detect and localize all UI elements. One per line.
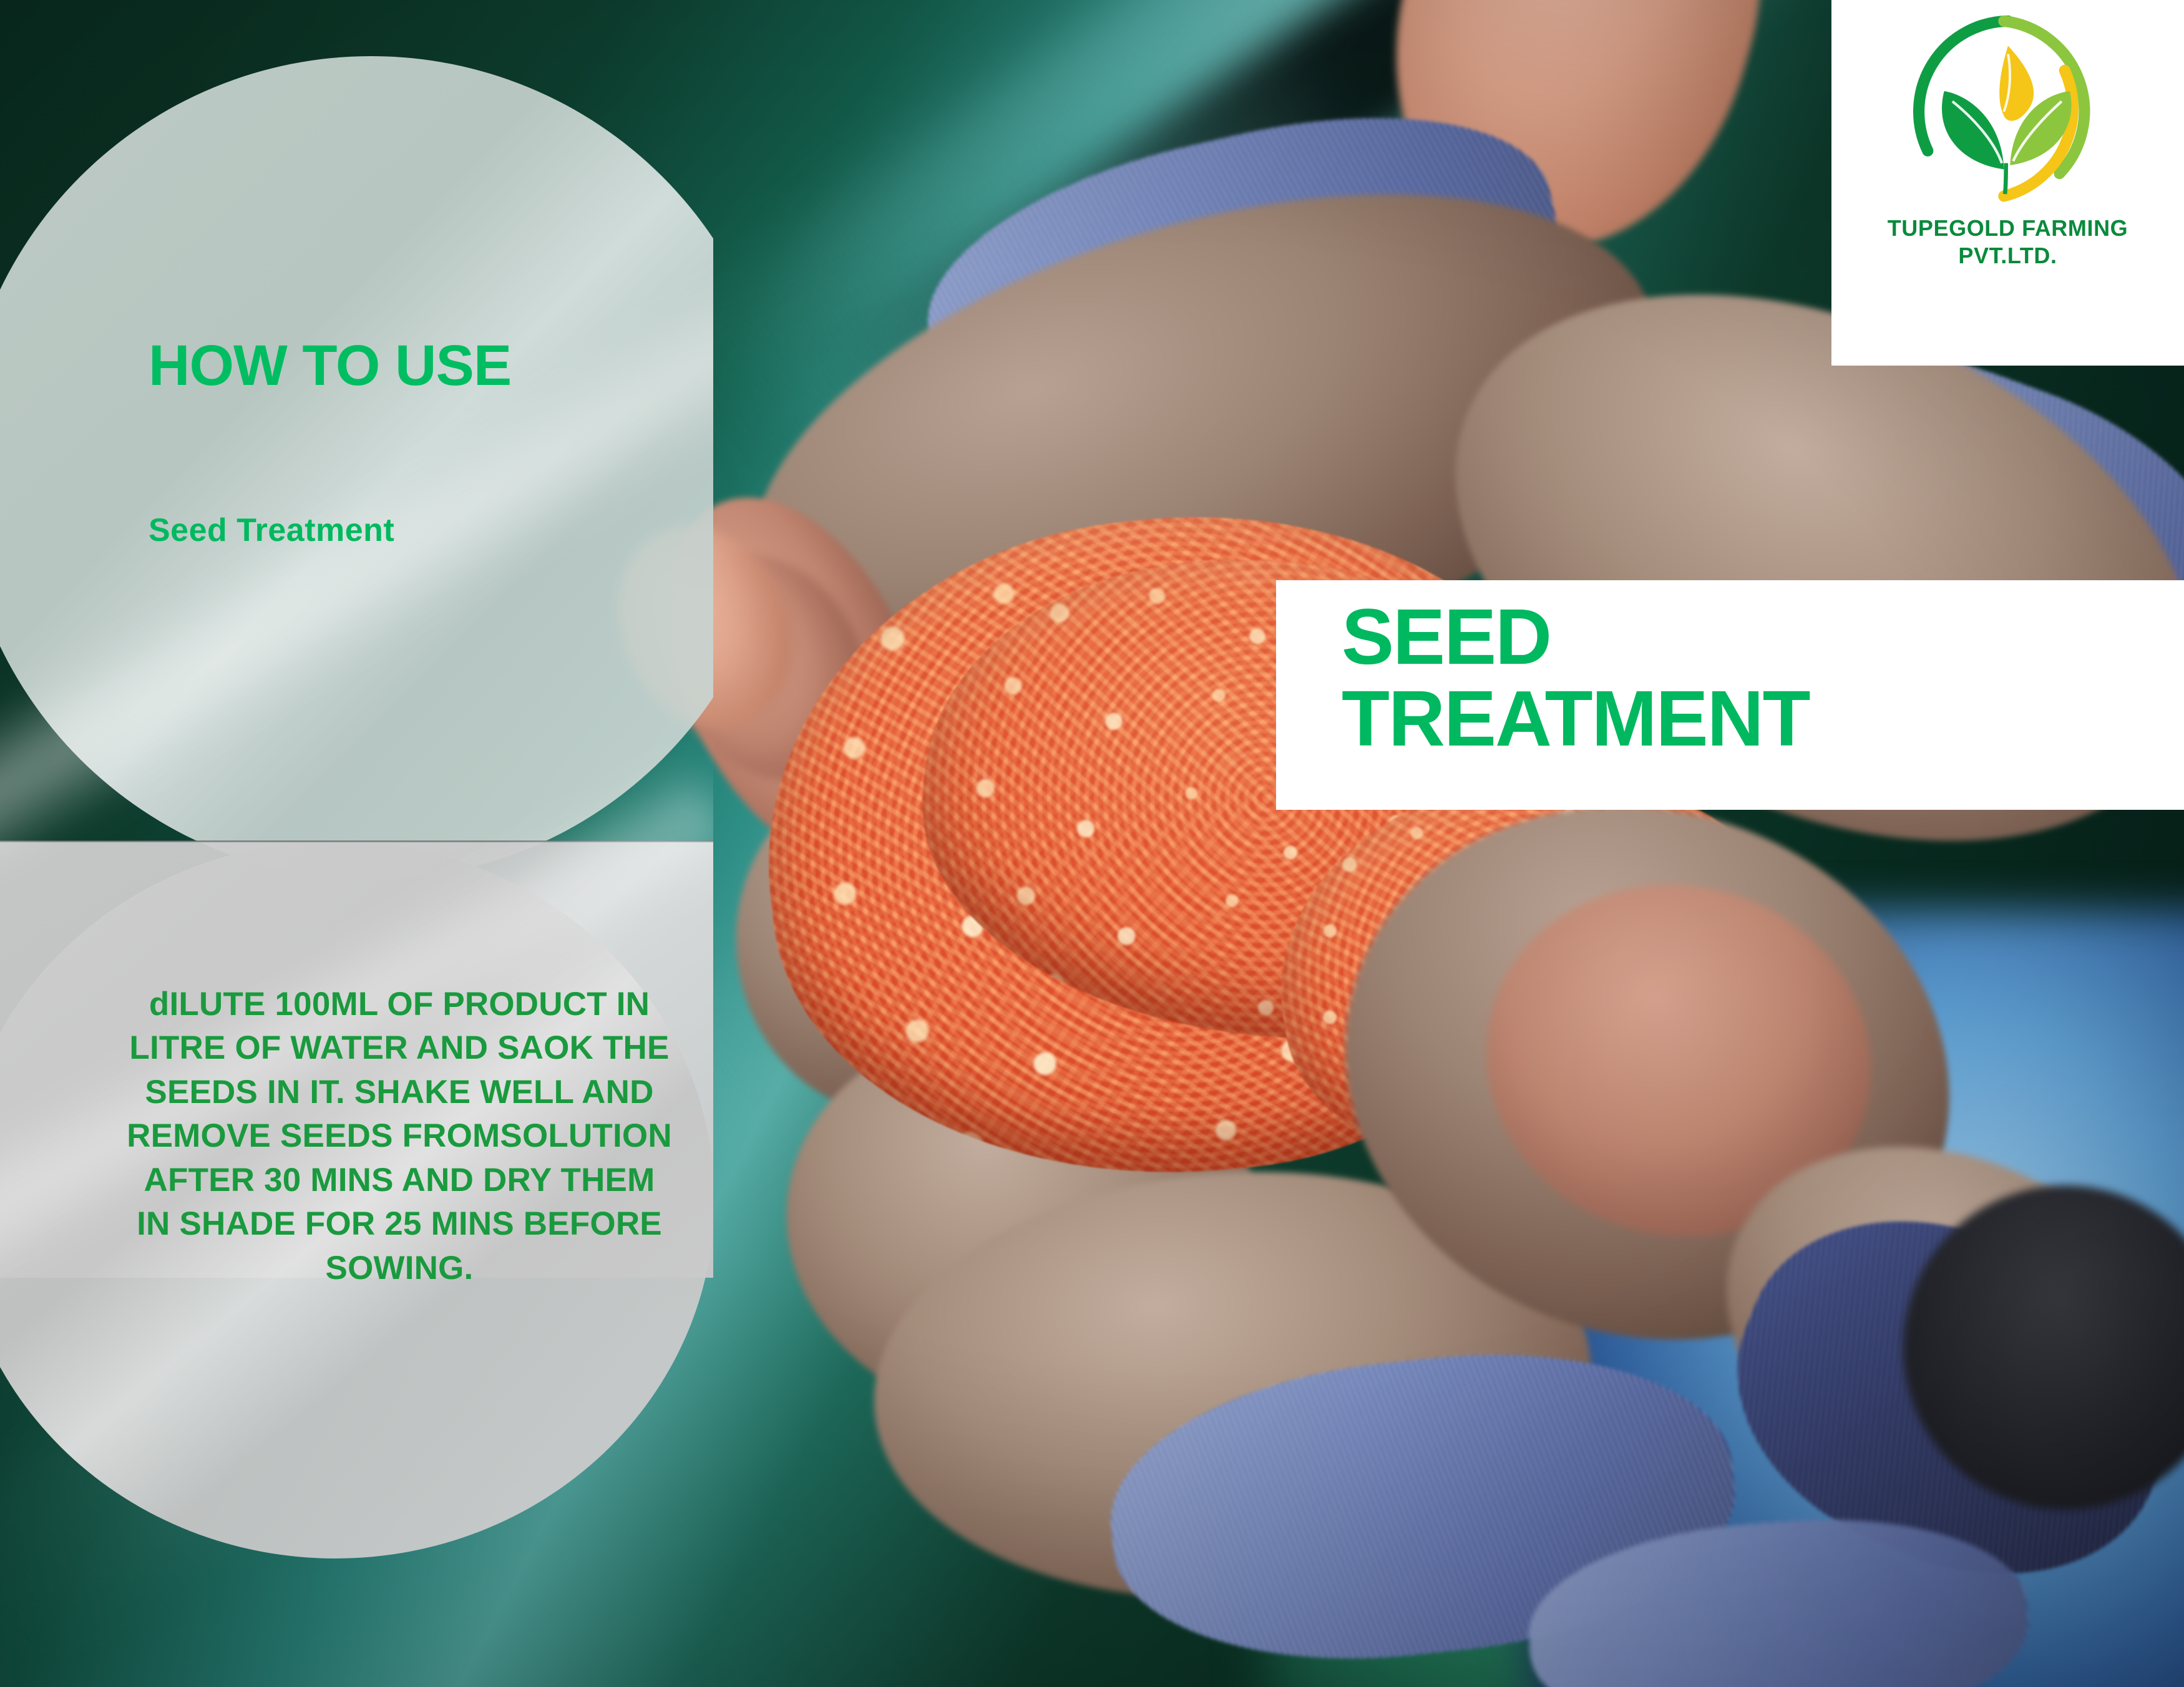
panel-divider: [0, 840, 713, 842]
banner-title: SEED TREATMENT: [1342, 596, 2184, 759]
banner-title-line1: SEED: [1342, 596, 2184, 678]
banner-title-line2: TREATMENT: [1342, 678, 2184, 759]
logo-company-name-line1: TUPEGOLD FARMING: [1831, 215, 2184, 242]
page-subtitle: Seed Treatment: [149, 512, 623, 549]
logo-company-name-line2: PVT.LTD.: [1831, 242, 2184, 270]
leaf-flame-circle-logo-icon: [1905, 9, 2111, 215]
instructions-text: dILUTE 100ML OF PRODUCT IN LITRE OF WATE…: [125, 983, 674, 1290]
page-title: HOW TO USE: [149, 337, 623, 396]
brand-logo-card: TUPEGOLD FARMING PVT.LTD.: [1831, 0, 2184, 366]
howto-circle-shape: [0, 56, 713, 880]
left-info-panel: HOW TO USE Seed Treatment dILUTE 100ML O…: [0, 0, 713, 1687]
poster-canvas: HOW TO USE Seed Treatment dILUTE 100ML O…: [0, 0, 2184, 1687]
